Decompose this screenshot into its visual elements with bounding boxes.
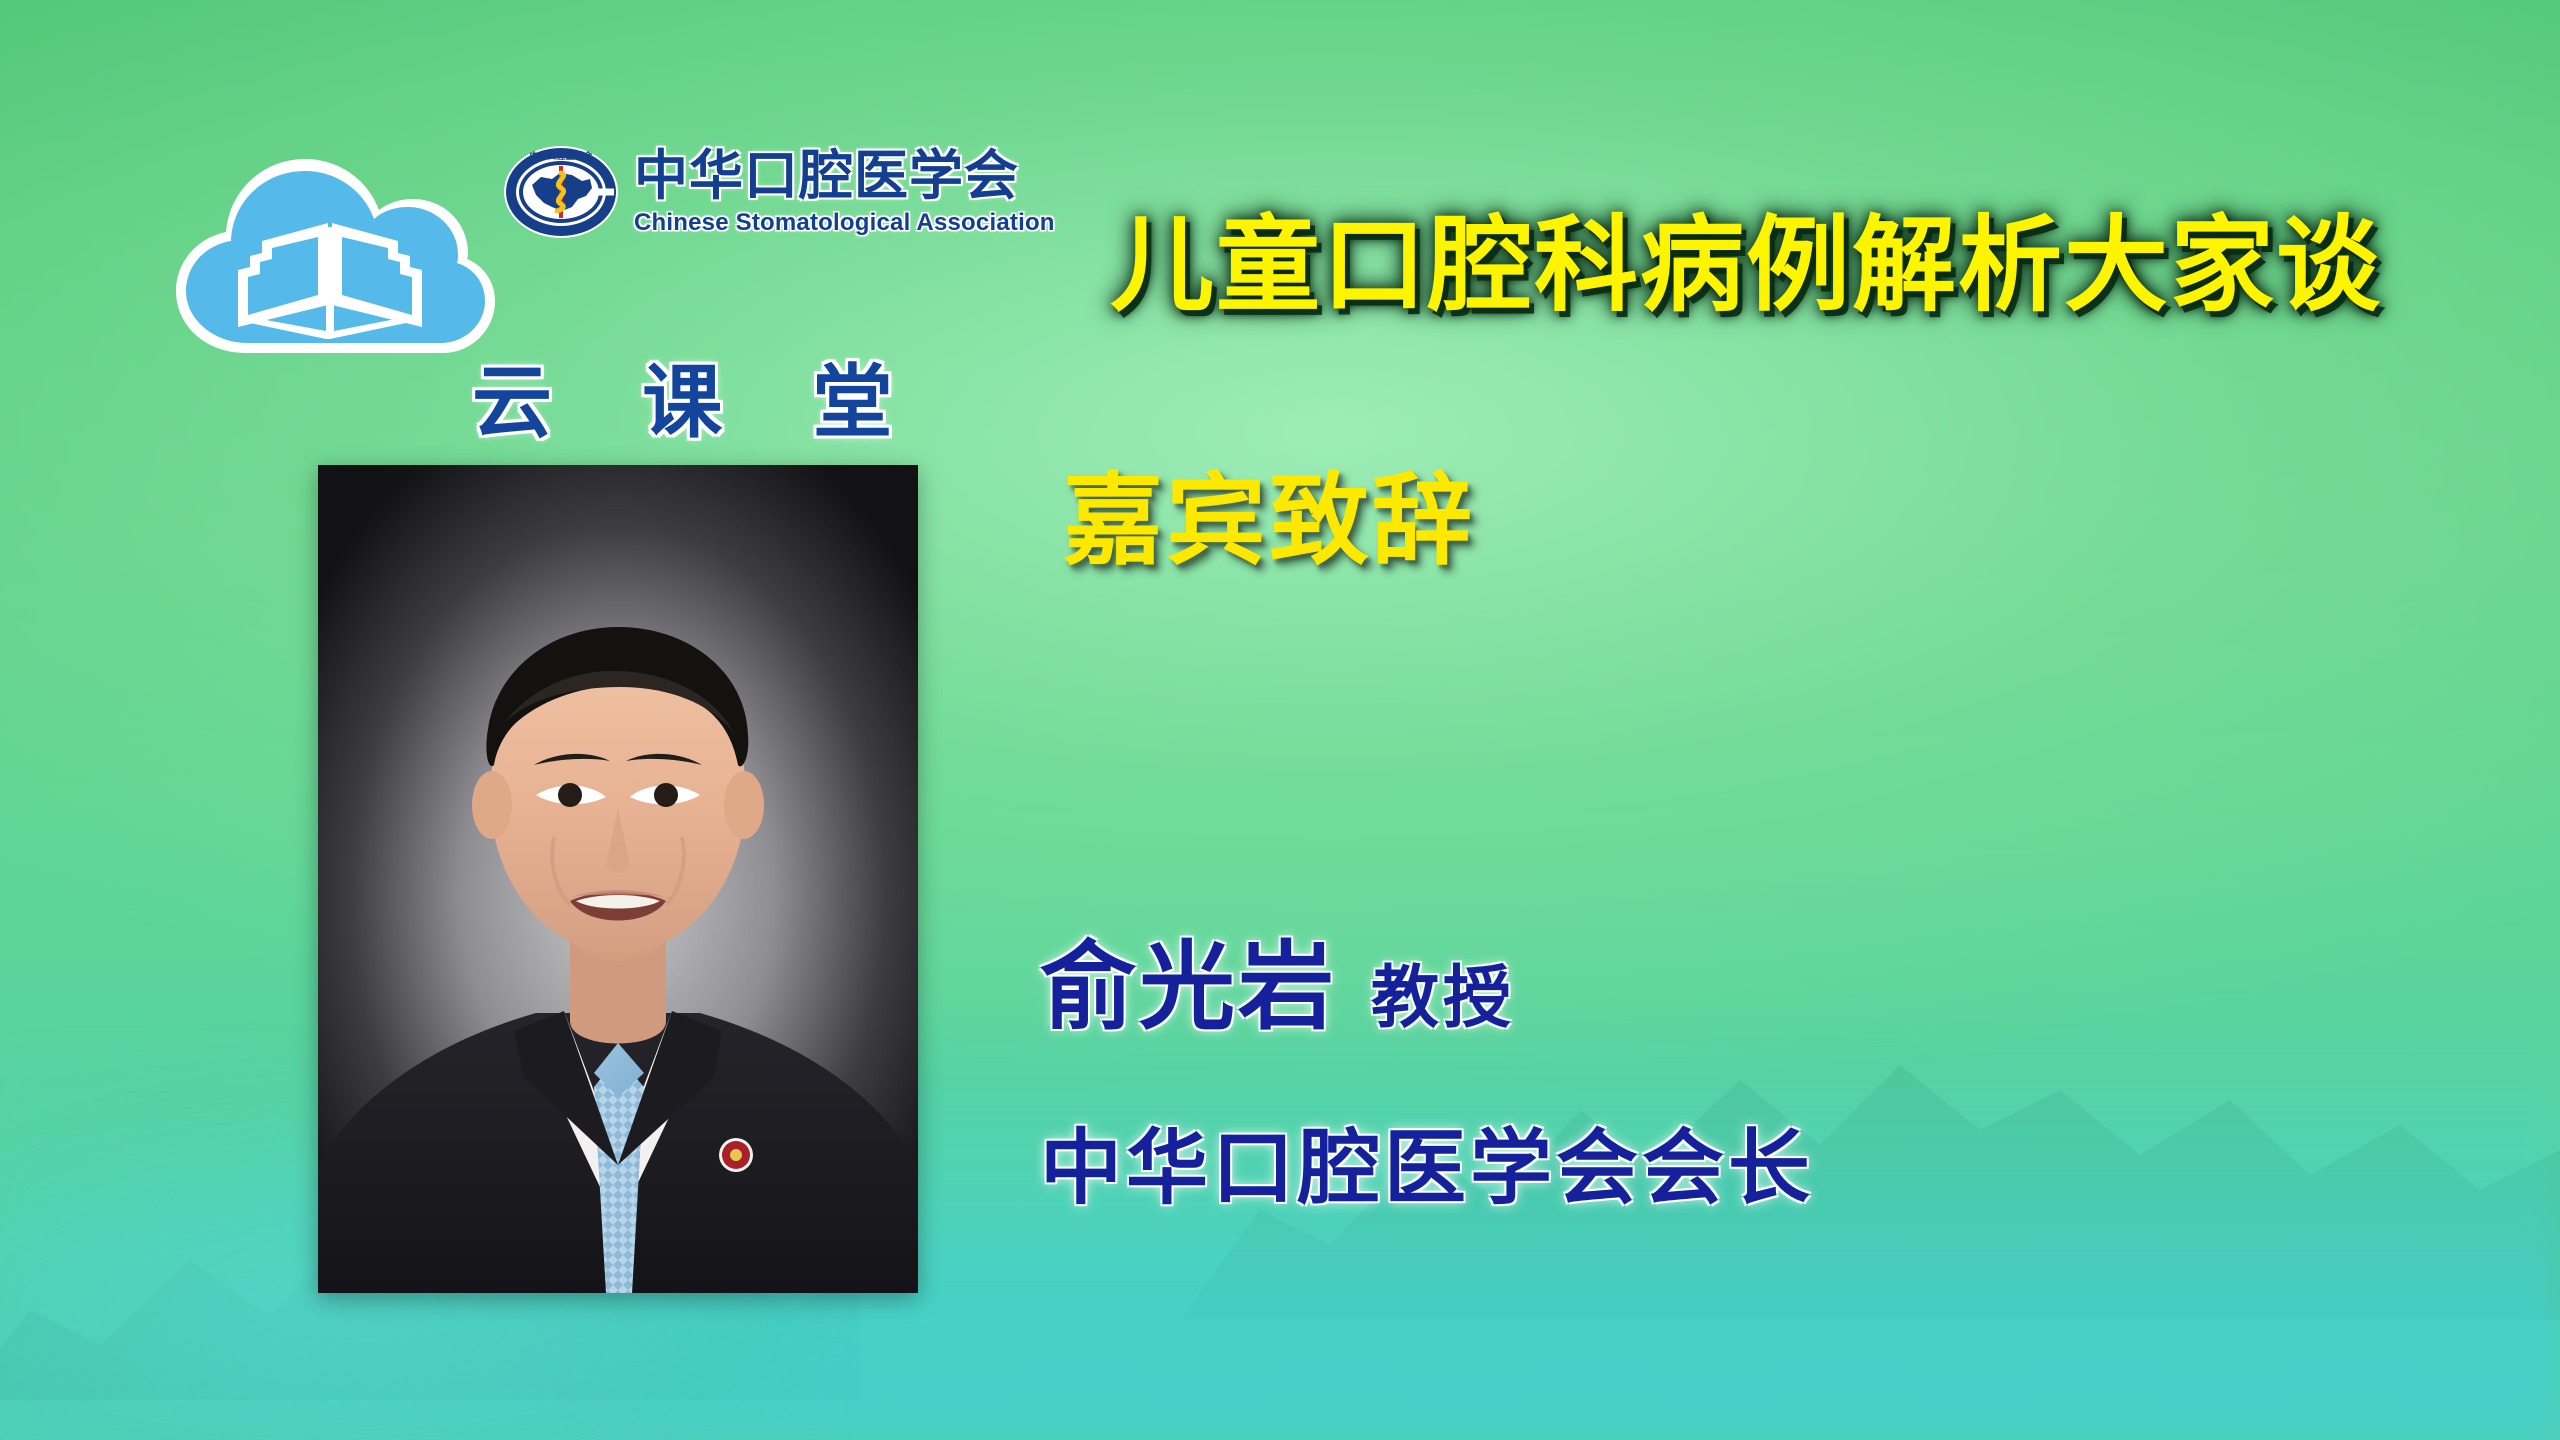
emblem-inner-text: 中华口腔医学会 [529, 150, 593, 161]
speaker-name-line: 俞光岩 教授 [1040, 940, 1515, 1036]
speaker-name: 俞光岩 [1040, 940, 1337, 1036]
association-logo: 中华口腔医学会 中华口腔医学会 Chinese Stomatological A… [502, 133, 1055, 251]
speaker-portrait [318, 465, 918, 1293]
cloud-book-icon [150, 145, 510, 365]
association-name-cn: 中华口腔医学会 [634, 149, 1055, 203]
speaker-affiliation: 中华口腔医学会会长 [1040, 1128, 1814, 1210]
main-title: 儿童口腔科病例解析大家谈 [1110, 208, 2382, 324]
association-name-en: Chinese Stomatological Association [634, 211, 1055, 235]
csa-emblem-icon: 中华口腔医学会 [502, 133, 620, 251]
slide-stage: 中华口腔医学会 中华口腔医学会 Chinese Stomatological A… [0, 0, 2560, 1440]
branding-block: 中华口腔医学会 中华口腔医学会 Chinese Stomatological A… [150, 125, 1010, 395]
section-title: 嘉宾致辞 [1063, 466, 1475, 576]
association-wordmark: 中华口腔医学会 Chinese Stomatological Associati… [634, 149, 1055, 235]
speaker-rank: 教授 [1371, 964, 1515, 1036]
platform-label: 云 课 堂 [472, 363, 926, 443]
